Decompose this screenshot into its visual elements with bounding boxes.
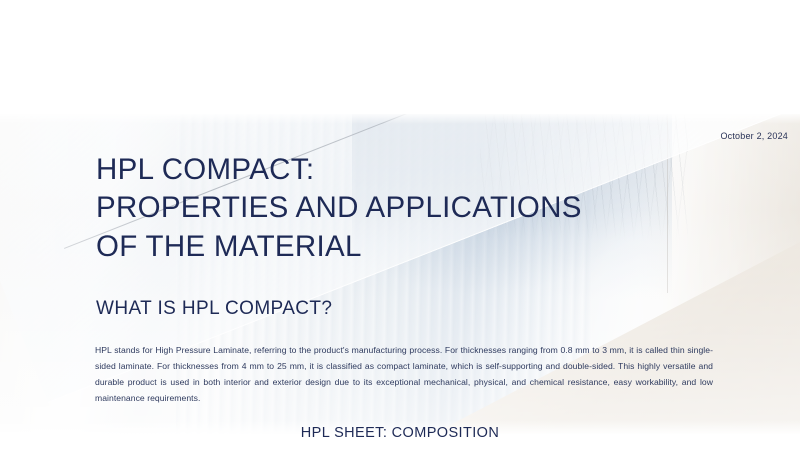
- page-title: HPL COMPACT: PROPERTIES AND APPLICATIONS…: [96, 151, 756, 266]
- bottom-section-heading: HPL SHEET: COMPOSITION: [0, 425, 800, 441]
- title-line-1: HPL COMPACT:: [96, 151, 756, 189]
- slide-content: October 2, 2024 HPL COMPACT: PROPERTIES …: [0, 0, 800, 450]
- presentation-slide: October 2, 2024 HPL COMPACT: PROPERTIES …: [0, 0, 800, 450]
- body-paragraph: HPL stands for High Pressure Laminate, r…: [95, 343, 713, 407]
- section-heading: WHAT IS HPL COMPACT?: [96, 298, 332, 320]
- slide-date: October 2, 2024: [720, 131, 788, 141]
- title-line-2: PROPERTIES AND APPLICATIONS: [96, 189, 756, 227]
- bottom-section-heading-label: HPL SHEET: COMPOSITION: [301, 425, 499, 441]
- title-line-3: OF THE MATERIAL: [96, 228, 756, 266]
